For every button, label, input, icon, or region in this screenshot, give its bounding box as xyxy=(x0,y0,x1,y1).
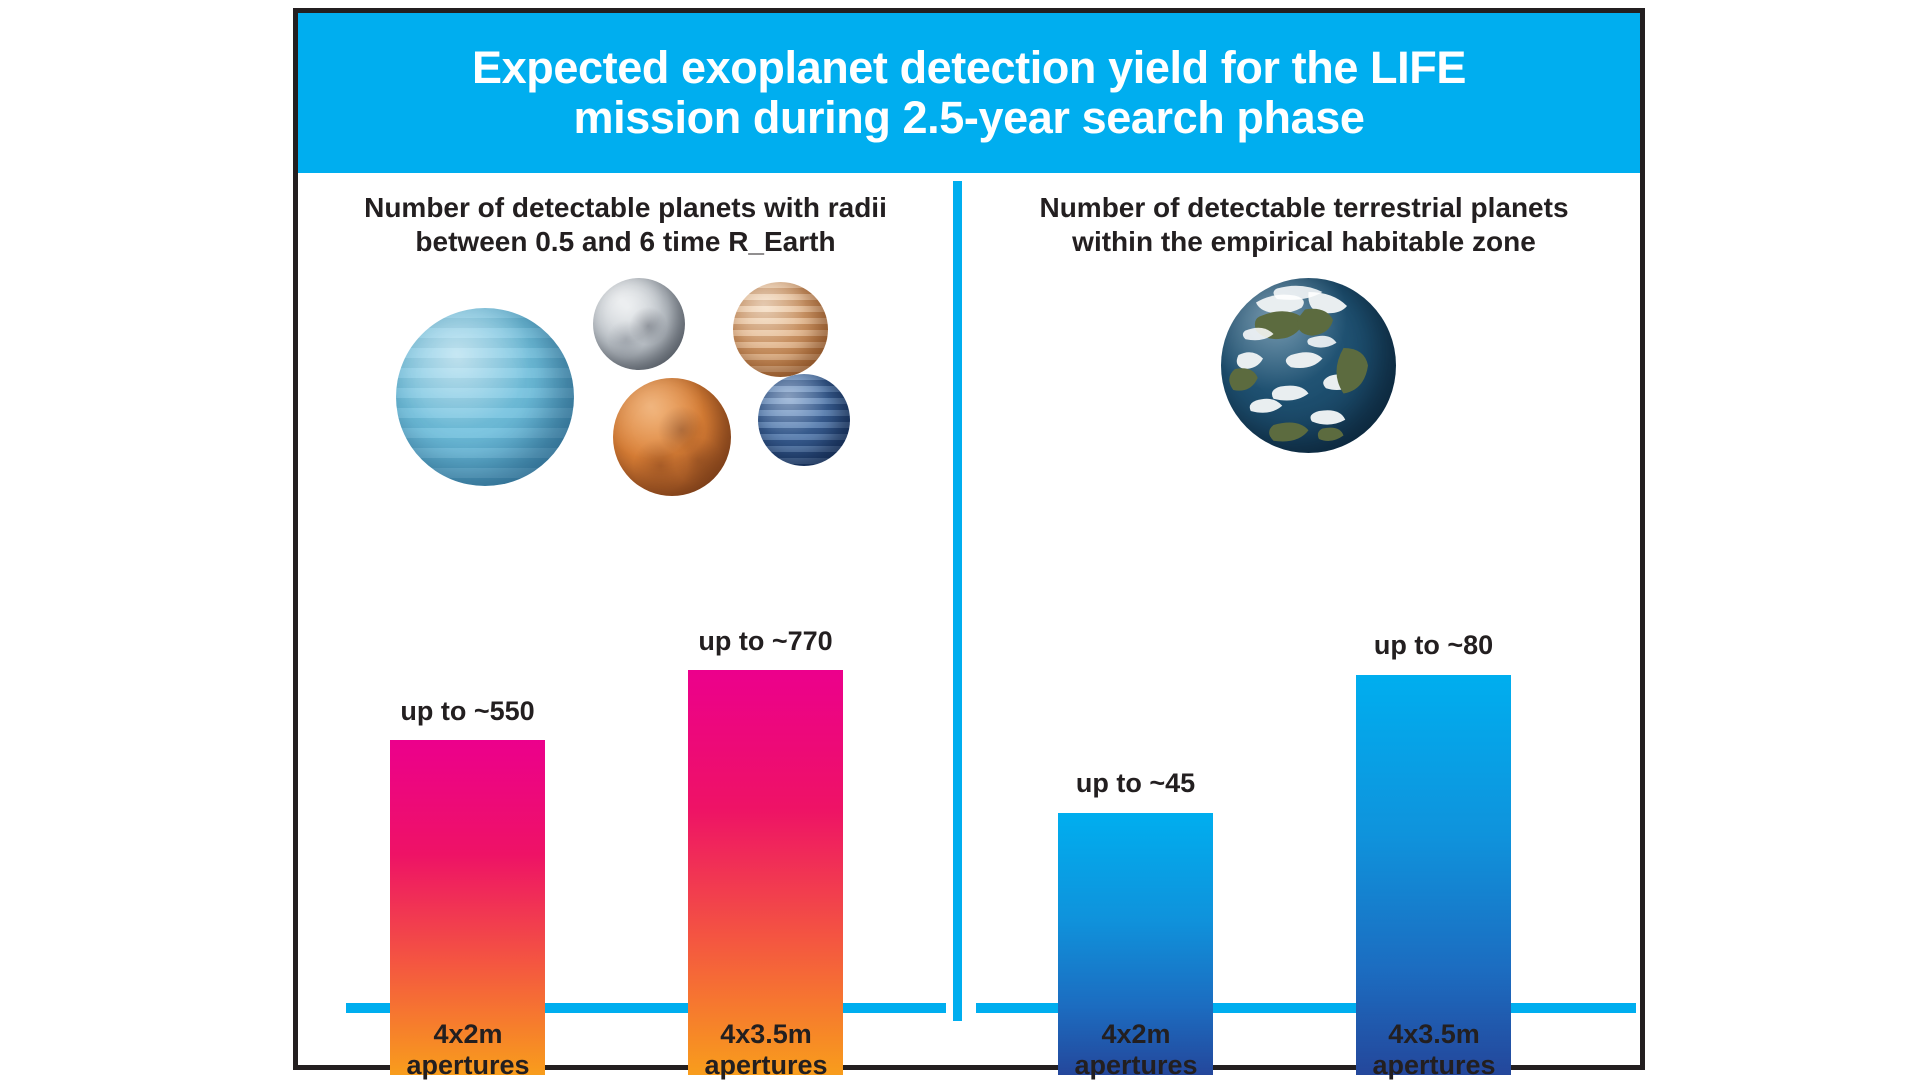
tick-label-right-2: 4x3.5m apertures xyxy=(1372,1019,1495,1080)
chart-right: up to ~45 4x2m apertures up to ~80 4x3.5… xyxy=(966,503,1642,1075)
planet-mars-orange-icon xyxy=(613,378,731,496)
tick-label-left-2: 4x3.5m apertures xyxy=(704,1019,827,1080)
bar-value-left-2: up to ~770 xyxy=(698,626,832,657)
bar-slot-left-2: up to ~770 xyxy=(688,503,843,1075)
panel-right-heading: Number of detectable terrestrial planets… xyxy=(966,191,1642,258)
bar-value-right-2: up to ~80 xyxy=(1374,630,1493,661)
bar-value-right-1: up to ~45 xyxy=(1076,768,1195,799)
bar-slot-right-1: up to ~45 xyxy=(1058,503,1213,1075)
tick-label-right-1: 4x2m apertures xyxy=(1074,1019,1197,1080)
planet-earth-icon xyxy=(1221,278,1396,453)
infographic-canvas: Expected exoplanet detection yield for t… xyxy=(0,0,1920,1080)
chart-left: up to ~550 4x2m apertures up to ~770 4x3… xyxy=(298,503,953,1075)
planet-ice-giant-blue-icon xyxy=(396,308,574,486)
planet-gas-giant-tan-icon xyxy=(733,282,828,377)
panel-right: Number of detectable terrestrial planets… xyxy=(966,173,1642,1075)
planet-grey-rocky-icon xyxy=(593,278,685,370)
bar-left-4x3p5m xyxy=(688,670,843,1075)
bar-right-4x3p5m xyxy=(1356,675,1511,1075)
panel-left-heading: Number of detectable planets with radii … xyxy=(298,191,953,258)
page-title: Expected exoplanet detection yield for t… xyxy=(446,43,1492,144)
bar-slot-right-2: up to ~80 xyxy=(1356,503,1511,1075)
panel-right-artwork xyxy=(1221,278,1411,468)
panel-left: Number of detectable planets with radii … xyxy=(298,173,953,1075)
tick-label-left-1: 4x2m apertures xyxy=(406,1019,529,1080)
planet-neptune-darkblue-icon xyxy=(758,374,850,466)
poster-frame: Expected exoplanet detection yield for t… xyxy=(293,8,1645,1070)
bar-value-left-1: up to ~550 xyxy=(400,696,534,727)
panel-left-artwork xyxy=(388,278,858,493)
panel-divider xyxy=(953,181,962,1021)
panels-container: Number of detectable planets with radii … xyxy=(298,173,1640,1075)
title-banner: Expected exoplanet detection yield for t… xyxy=(298,13,1640,173)
bar-slot-left-1: up to ~550 xyxy=(390,503,545,1075)
